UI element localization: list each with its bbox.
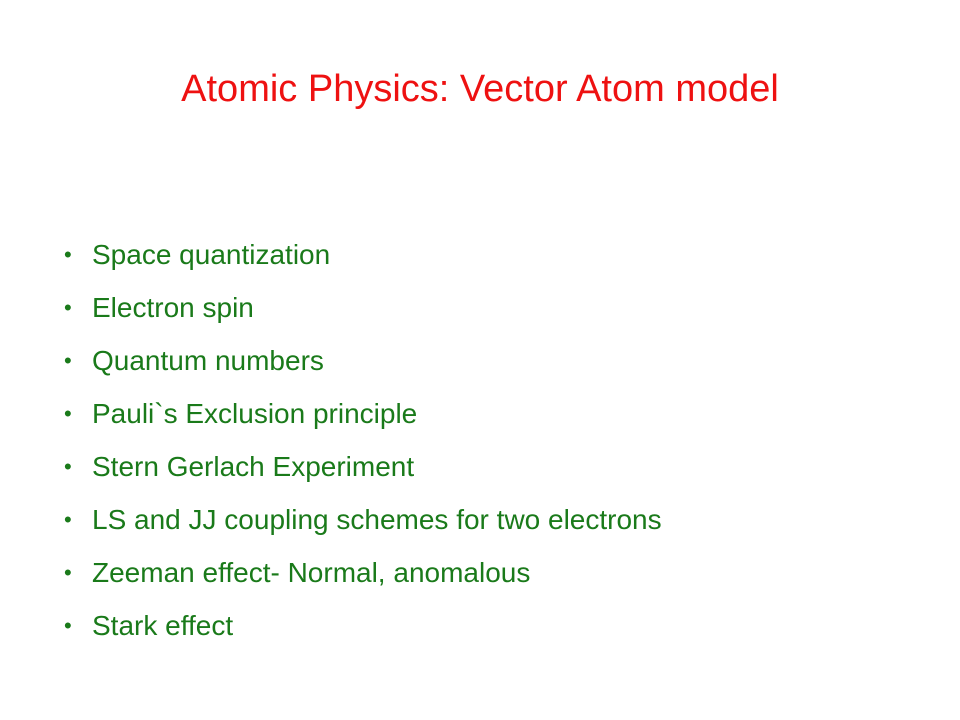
list-item-label: Zeeman effect- Normal, anomalous [92, 557, 530, 588]
list-item: • Zeeman effect- Normal, anomalous [56, 546, 916, 599]
bullet-point-icon: • [64, 493, 74, 546]
list-item: • Stern Gerlach Experiment [56, 440, 916, 493]
presentation-slide: Atomic Physics: Vector Atom model • Spac… [0, 0, 960, 720]
page-title: Atomic Physics: Vector Atom model [0, 66, 960, 112]
list-item: • Stark effect [56, 599, 916, 652]
list-item-label: Stern Gerlach Experiment [92, 451, 414, 482]
list-item-label: Quantum numbers [92, 345, 324, 376]
bullet-list: • Space quantization • Electron spin • Q… [56, 228, 916, 652]
bullet-point-icon: • [64, 228, 74, 281]
bullet-point-icon: • [64, 334, 74, 387]
list-item: • Quantum numbers [56, 334, 916, 387]
list-item-label: Pauli`s Exclusion principle [92, 398, 417, 429]
list-item: • LS and JJ coupling schemes for two ele… [56, 493, 916, 546]
bullet-point-icon: • [64, 281, 74, 334]
list-item: • Space quantization [56, 228, 916, 281]
bullet-point-icon: • [64, 387, 74, 440]
list-item-label: Space quantization [92, 239, 330, 270]
bullet-point-icon: • [64, 599, 74, 652]
bullet-point-icon: • [64, 546, 74, 599]
list-item-label: Stark effect [92, 610, 233, 641]
list-item: • Pauli`s Exclusion principle [56, 387, 916, 440]
list-item: • Electron spin [56, 281, 916, 334]
list-item-label: Electron spin [92, 292, 254, 323]
list-item-label: LS and JJ coupling schemes for two elect… [92, 504, 662, 535]
bullet-point-icon: • [64, 440, 74, 493]
